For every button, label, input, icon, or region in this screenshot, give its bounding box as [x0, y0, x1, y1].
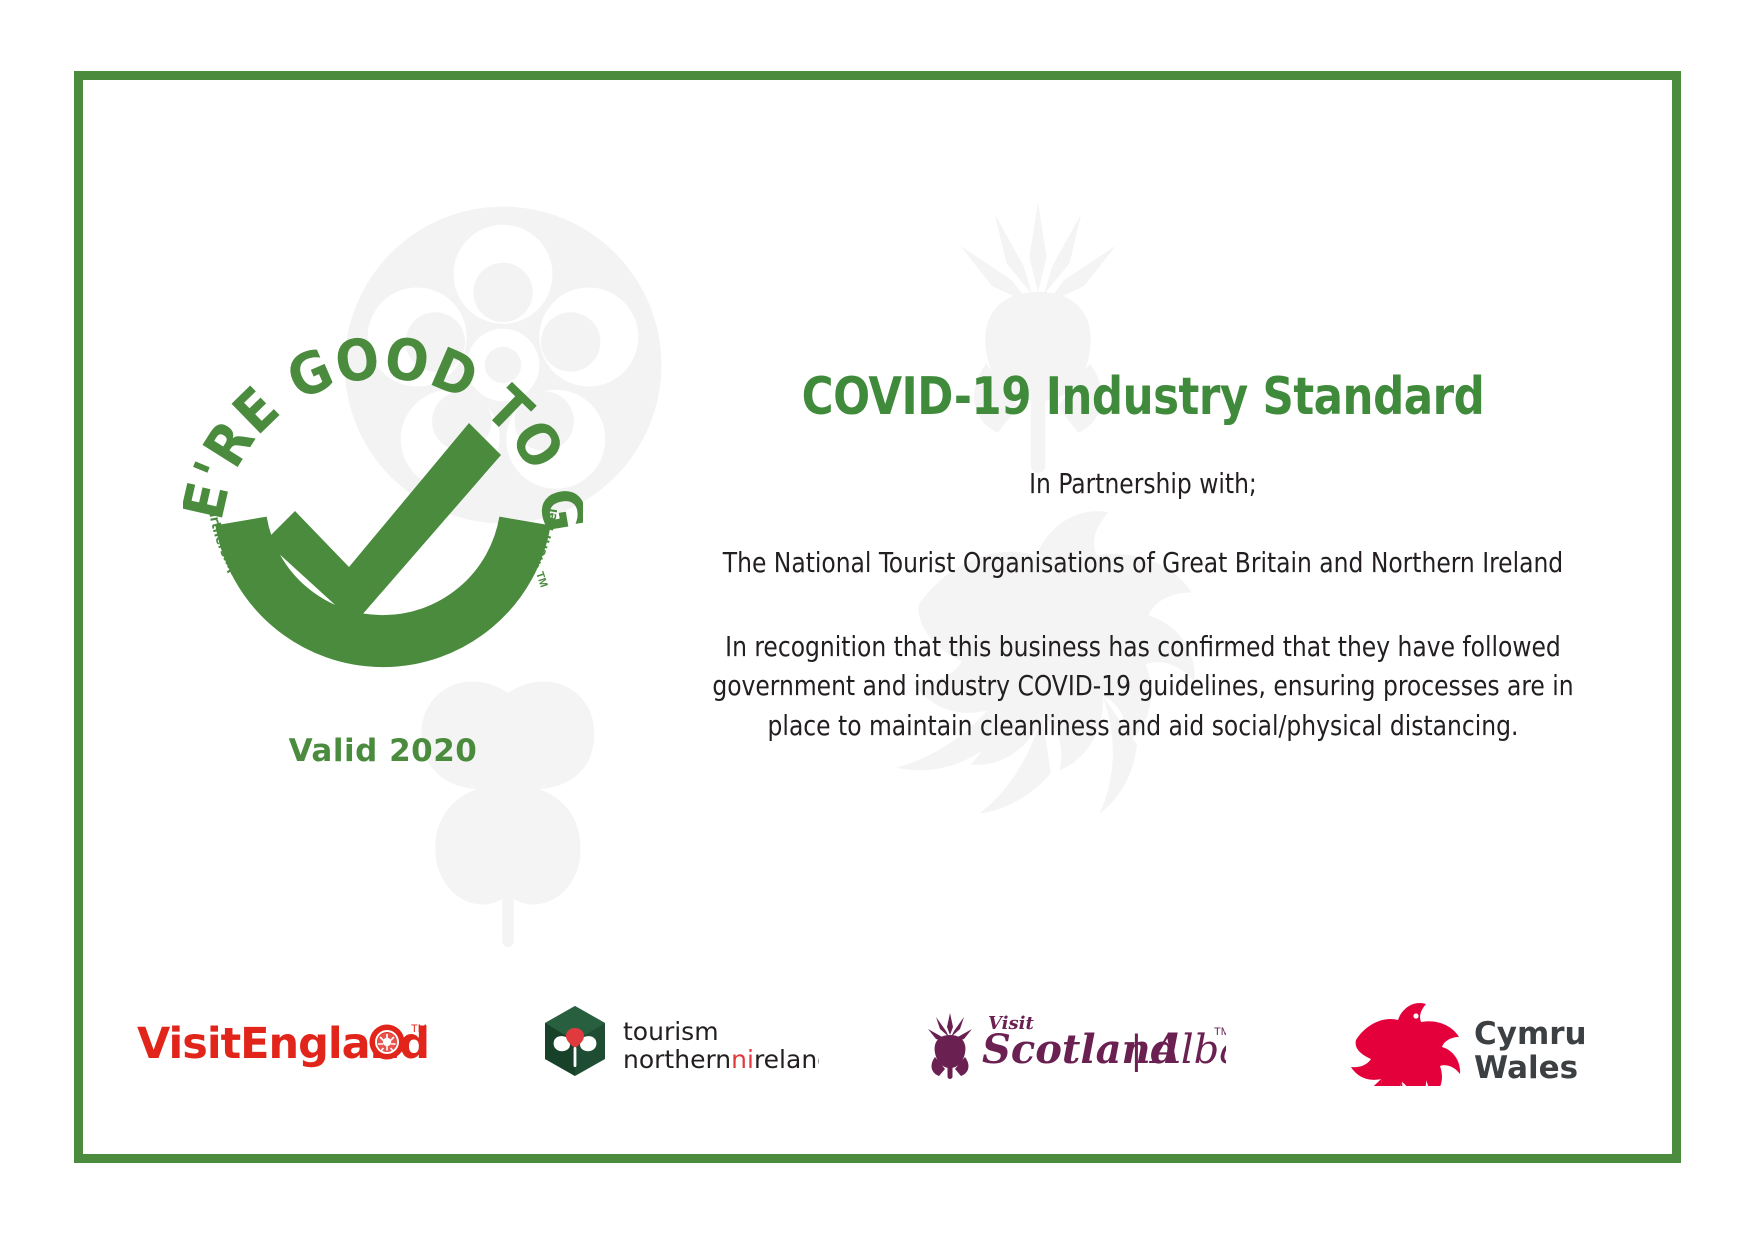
certificate-text-column: COVID-19 Industry Standard In Partnershi… — [643, 370, 1643, 746]
rose-icon — [369, 1025, 404, 1060]
were-good-to-go-logo: WE'RE GOOD TO GO In Partnership with the… — [183, 305, 583, 705]
tourism-northern-ireland-logo: tourism northernnireland — [480, 988, 877, 1098]
tourism-line-one: tourism — [623, 1017, 719, 1046]
certificate-frame: WE'RE GOOD TO GO In Partnership with the… — [74, 71, 1681, 1163]
cymru-line: Cymru — [1474, 1016, 1587, 1052]
visit-england-logo: VisitEngland TM — [83, 988, 480, 1098]
recognition-text: In recognition that this business has co… — [678, 627, 1608, 746]
partnership-label: In Partnership with; — [678, 467, 1608, 500]
visit-england-trademark-icon: TM — [411, 1023, 427, 1035]
badge-column: WE'RE GOOD TO GO In Partnership with the… — [143, 305, 623, 769]
badge-arc-text-top: WE'RE GOOD TO GO — [183, 305, 583, 537]
visit-scotland-divider: | — [1130, 1028, 1143, 1072]
wales-line: Wales — [1474, 1050, 1578, 1086]
valid-year-label: Valid 2020 — [143, 733, 623, 769]
hexagon-shamrock-icon — [545, 1006, 605, 1076]
thistle-icon — [928, 1013, 972, 1079]
visit-scotland-alba-logo: Visit Scotland | Alba TM — [878, 988, 1275, 1098]
welsh-dragon-icon — [1348, 1003, 1460, 1086]
page-title: COVID-19 Industry Standard — [678, 370, 1608, 425]
alba-trademark-icon: TM — [1214, 1026, 1226, 1038]
partner-logos-row: VisitEngland TM — [83, 988, 1672, 1098]
badge-trademark-icon: TM — [533, 570, 549, 589]
organisations-line: The National Tourist Organisations of Gr… — [678, 546, 1608, 579]
cymru-wales-logo: Cymru Wales — [1275, 988, 1672, 1098]
tourism-line-two: northernnireland — [623, 1045, 819, 1074]
visit-scotland-wordmark: Scotland — [982, 1026, 1179, 1073]
